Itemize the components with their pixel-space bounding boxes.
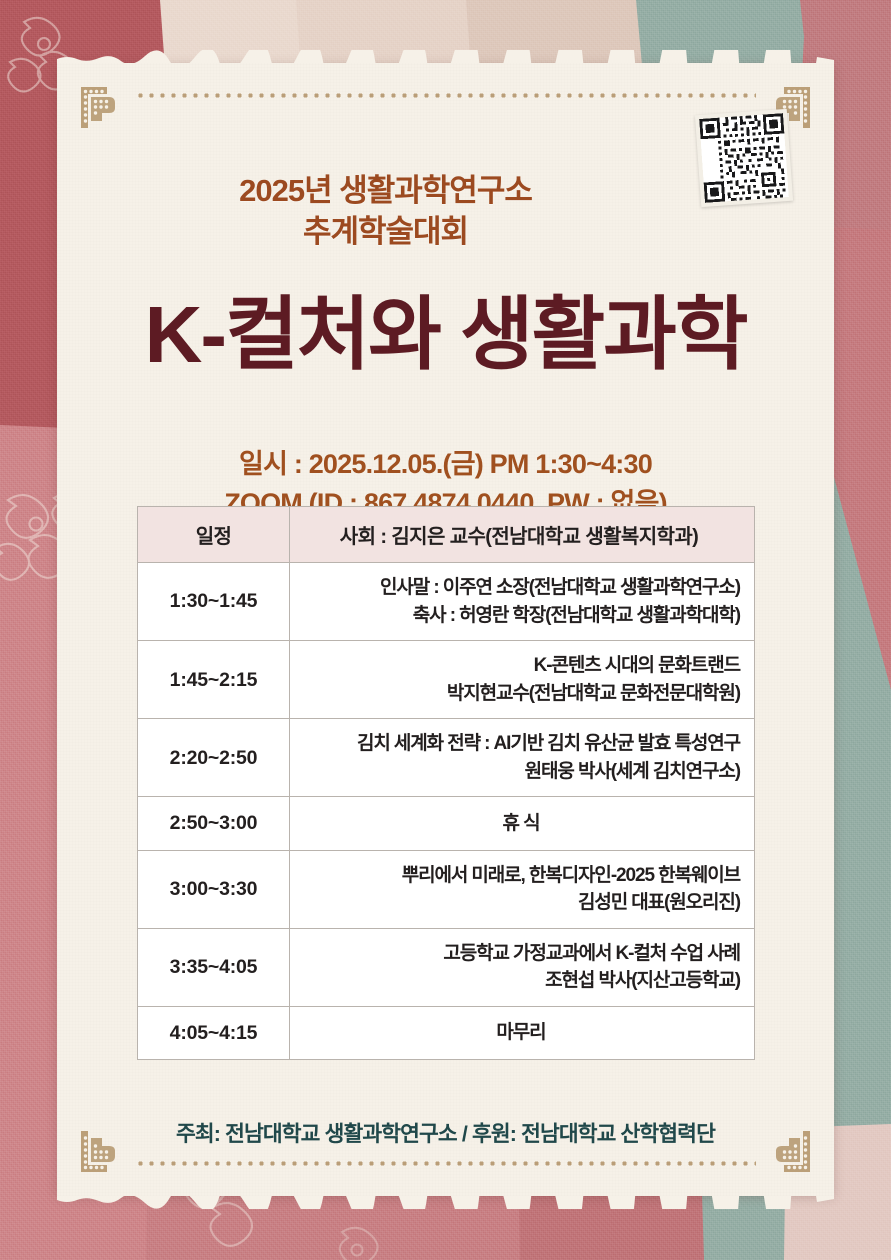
- corner-ornament-icon: [79, 85, 125, 131]
- schedule-program-line: 휴 식: [302, 810, 740, 838]
- table-row: 3:00~3:30뿌리에서 미래로, 한복디자인-2025 한복웨이브김성민 대…: [138, 850, 755, 928]
- schedule-program-line: 마무리: [302, 1019, 740, 1047]
- schedule-time-cell: 3:35~4:05: [138, 928, 290, 1006]
- schedule-time-cell: 3:00~3:30: [138, 850, 290, 928]
- dotted-rule-top: [135, 92, 756, 99]
- schedule-program-cell: 뿌리에서 미래로, 한복디자인-2025 한복웨이브김성민 대표(원오리진): [290, 850, 755, 928]
- table-row: 2:20~2:50김치 세계화 전략 : AI기반 김치 유산균 발효 특성연구…: [138, 719, 755, 797]
- event-datetime: 일시 : 2025.12.05.(금) PM 1:30~4:30: [239, 449, 652, 479]
- schedule-time-cell: 2:20~2:50: [138, 719, 290, 797]
- schedule-table-body: 1:30~1:45인사말 : 이주연 소장(전남대학교 생활과학연구소)축사 :…: [138, 563, 755, 1060]
- schedule-time-cell: 1:45~2:15: [138, 641, 290, 719]
- schedule-program-line: 인사말 : 이주연 소장(전남대학교 생활과학연구소): [302, 574, 740, 602]
- schedule-time-cell: 4:05~4:15: [138, 1006, 290, 1059]
- schedule-table: 일정 사회 : 김지은 교수(전남대학교 생활복지학과) 1:30~1:45인사…: [137, 506, 755, 1060]
- page-title: K-컬처와 생활과학: [57, 295, 834, 375]
- table-row: 4:05~4:15마무리: [138, 1006, 755, 1059]
- event-subtitle: 2025년 생활과학연구소 추계학술대회: [57, 171, 834, 253]
- schedule-program-cell: 휴 식: [290, 797, 755, 850]
- table-row: 1:30~1:45인사말 : 이주연 소장(전남대학교 생활과학연구소)축사 :…: [138, 563, 755, 641]
- table-row: 3:35~4:05고등학교 가정교과에서 K-컬처 수업 사례조현섭 박사(지산…: [138, 928, 755, 1006]
- poster: 2025년 생활과학연구소 추계학술대회 K-컬처와 생활과학 일시 : 202…: [0, 0, 891, 1260]
- schedule-program-cell: K-콘텐츠 시대의 문화트랜드박지현교수(전남대학교 문화전문대학원): [290, 641, 755, 719]
- schedule-program-line: 조현섭 박사(지산고등학교): [302, 967, 740, 995]
- schedule-program-line: 원태웅 박사(세계 김치연구소): [302, 758, 740, 786]
- schedule-time-cell: 1:30~1:45: [138, 563, 290, 641]
- schedule-program-cell: 인사말 : 이주연 소장(전남대학교 생활과학연구소)축사 : 허영란 학장(전…: [290, 563, 755, 641]
- organizer-footer: 주최: 전남대학교 생활과학연구소 / 후원: 전남대학교 산학협력단: [57, 1117, 834, 1148]
- schedule-program-cell: 마무리: [290, 1006, 755, 1059]
- subtitle-line-1: 2025년 생활과학연구소: [239, 173, 532, 208]
- schedule-program-line: 김성민 대표(원오리진): [302, 889, 740, 917]
- table-header-row: 일정 사회 : 김지은 교수(전남대학교 생활복지학과): [138, 507, 755, 563]
- schedule-program-line: K-콘텐츠 시대의 문화트랜드: [302, 652, 740, 680]
- schedule-program-cell: 고등학교 가정교과에서 K-컬처 수업 사례조현섭 박사(지산고등학교): [290, 928, 755, 1006]
- table-row: 1:45~2:15K-콘텐츠 시대의 문화트랜드박지현교수(전남대학교 문화전문…: [138, 641, 755, 719]
- schedule-program-line: 김치 세계화 전략 : AI기반 김치 유산균 발효 특성연구: [302, 730, 740, 758]
- subtitle-line-2: 추계학술대회: [57, 212, 714, 253]
- schedule-program-line: 축사 : 허영란 학장(전남대학교 생활과학대학): [302, 602, 740, 630]
- schedule-time-cell: 2:50~3:00: [138, 797, 290, 850]
- schedule-program-line: 뿌리에서 미래로, 한복디자인-2025 한복웨이브: [302, 862, 740, 890]
- column-header-program: 사회 : 김지은 교수(전남대학교 생활복지학과): [290, 507, 755, 563]
- table-row: 2:50~3:00휴 식: [138, 797, 755, 850]
- dotted-rule-bottom: [135, 1160, 756, 1167]
- schedule-program-cell: 김치 세계화 전략 : AI기반 김치 유산균 발효 특성연구원태웅 박사(세계…: [290, 719, 755, 797]
- column-header-time: 일정: [138, 507, 290, 563]
- schedule-table-head: 일정 사회 : 김지은 교수(전남대학교 생활복지학과): [138, 507, 755, 563]
- poster-card: 2025년 생활과학연구소 추계학술대회 K-컬처와 생활과학 일시 : 202…: [57, 63, 834, 1196]
- schedule-program-line: 고등학교 가정교과에서 K-컬처 수업 사례: [302, 940, 740, 968]
- schedule-program-line: 박지현교수(전남대학교 문화전문대학원): [302, 680, 740, 708]
